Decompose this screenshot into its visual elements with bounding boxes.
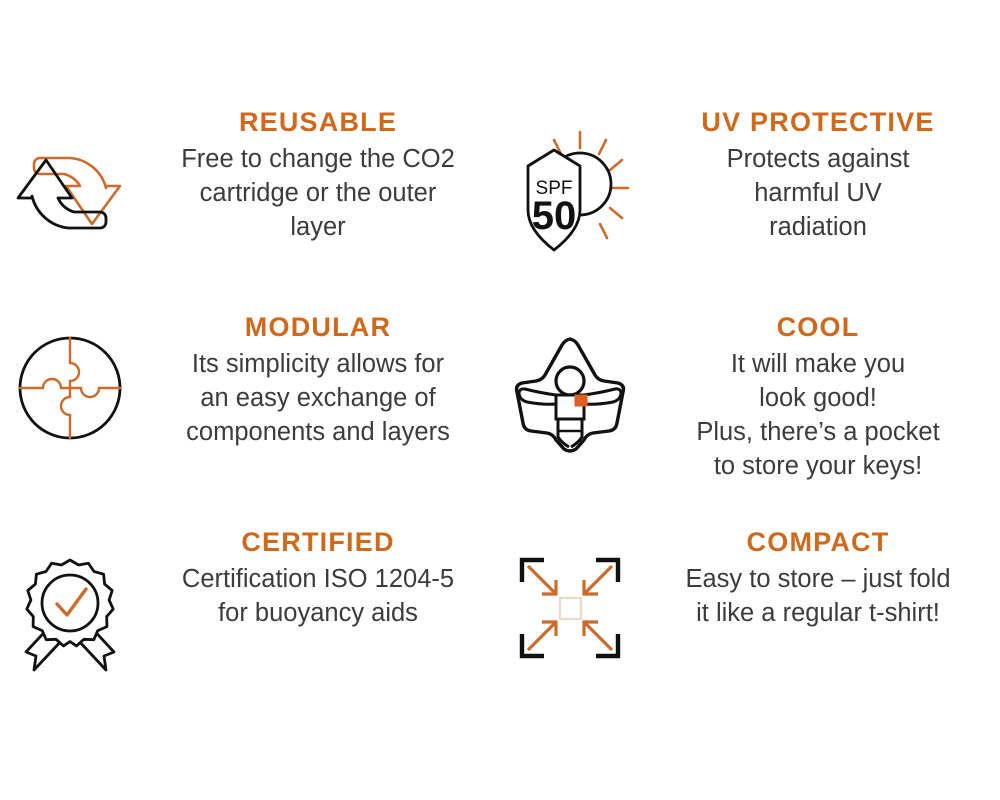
icon-container-compact <box>500 528 640 660</box>
feature-compact: COMPACT Easy to store – just fold it lik… <box>500 528 1000 668</box>
feature-title: CERTIFIED <box>140 528 496 557</box>
description-line: for buoyancy aids <box>140 597 496 631</box>
description-line: to store your keys! <box>640 450 996 484</box>
description-line: Protects against <box>640 143 996 177</box>
recycle-arrows-icon <box>18 126 122 238</box>
feature-description: Easy to store – just fold it like a regu… <box>640 563 996 631</box>
feature-description: Free to change the CO2 cartridge or the … <box>140 143 496 245</box>
feature-description: Certification ISO 1204-5 for buoyancy ai… <box>140 563 496 631</box>
feature-title: UV PROTECTIVE <box>640 108 996 137</box>
description-line: cartridge or the outer <box>140 177 496 211</box>
feature-description: Protects against harmful UV radiation <box>640 143 996 245</box>
rosette-inner-circle-icon <box>42 575 98 631</box>
text-container-modular: MODULAR Its simplicity allows for an eas… <box>140 313 500 450</box>
text-container-uv-protective: UV PROTECTIVE Protects against harmful U… <box>640 108 1000 245</box>
feature-title: MODULAR <box>140 313 496 342</box>
text-container-compact: COMPACT Easy to store – just fold it lik… <box>640 528 1000 631</box>
description-line: Its simplicity allows for <box>140 348 496 382</box>
feature-title: COMPACT <box>640 528 996 557</box>
feature-title: REUSABLE <box>140 108 496 137</box>
description-line: an easy exchange of <box>140 382 496 416</box>
description-line: Easy to store – just fold <box>640 563 996 597</box>
description-line: radiation <box>640 211 996 245</box>
feature-grid-page: REUSABLE Free to change the CO2 cartridg… <box>0 0 1000 800</box>
description-line: harmful UV <box>640 177 996 211</box>
pocket-icon <box>575 395 587 406</box>
feature-description: It will make you look good! Plus, there’… <box>640 348 996 484</box>
description-line: Certification ISO 1204-5 <box>140 563 496 597</box>
feature-title: COOL <box>640 313 996 342</box>
certification-rosette-icon <box>18 556 122 676</box>
feature-modular: MODULAR Its simplicity allows for an eas… <box>0 313 500 528</box>
spf-shield-sun-icon: SPF 50 <box>510 126 630 256</box>
description-line: layer <box>140 211 496 245</box>
description-line: Plus, there’s a pocket <box>640 416 996 450</box>
spf-value-label: 50 <box>532 194 577 238</box>
description-line: it like a regular t-shirt! <box>640 597 996 631</box>
text-container-reusable: REUSABLE Free to change the CO2 cartridg… <box>140 108 500 245</box>
text-container-certified: CERTIFIED Certification ISO 1204-5 for b… <box>140 528 500 631</box>
center-square-icon <box>560 598 581 619</box>
description-line: Free to change the CO2 <box>140 143 496 177</box>
feature-cool: COOL It will make you look good! Plus, t… <box>500 313 1000 528</box>
icon-container-reusable <box>0 108 140 238</box>
feature-certified: CERTIFIED Certification ISO 1204-5 for b… <box>0 528 500 668</box>
description-line: components and layers <box>140 416 496 450</box>
text-container-cool: COOL It will make you look good! Plus, t… <box>640 313 1000 484</box>
features-grid: REUSABLE Free to change the CO2 cartridg… <box>0 108 1000 668</box>
icon-container-modular <box>0 313 140 441</box>
feature-reusable: REUSABLE Free to change the CO2 cartridg… <box>0 108 500 313</box>
star-person-icon <box>513 335 627 453</box>
feature-description: Its simplicity allows for an easy exchan… <box>140 348 496 450</box>
compress-arrows-icon <box>518 556 622 660</box>
head-icon <box>556 367 584 395</box>
description-line: It will make you <box>640 348 996 382</box>
icon-container-cool <box>500 313 640 453</box>
puzzle-circle-icon <box>17 335 123 441</box>
description-line: look good! <box>640 382 996 416</box>
feature-uv-protective: SPF 50 UV PROTECTIVE Protects against ha… <box>500 108 1000 313</box>
icon-container-uv-protective: SPF 50 <box>500 108 640 256</box>
icon-container-certified <box>0 528 140 676</box>
